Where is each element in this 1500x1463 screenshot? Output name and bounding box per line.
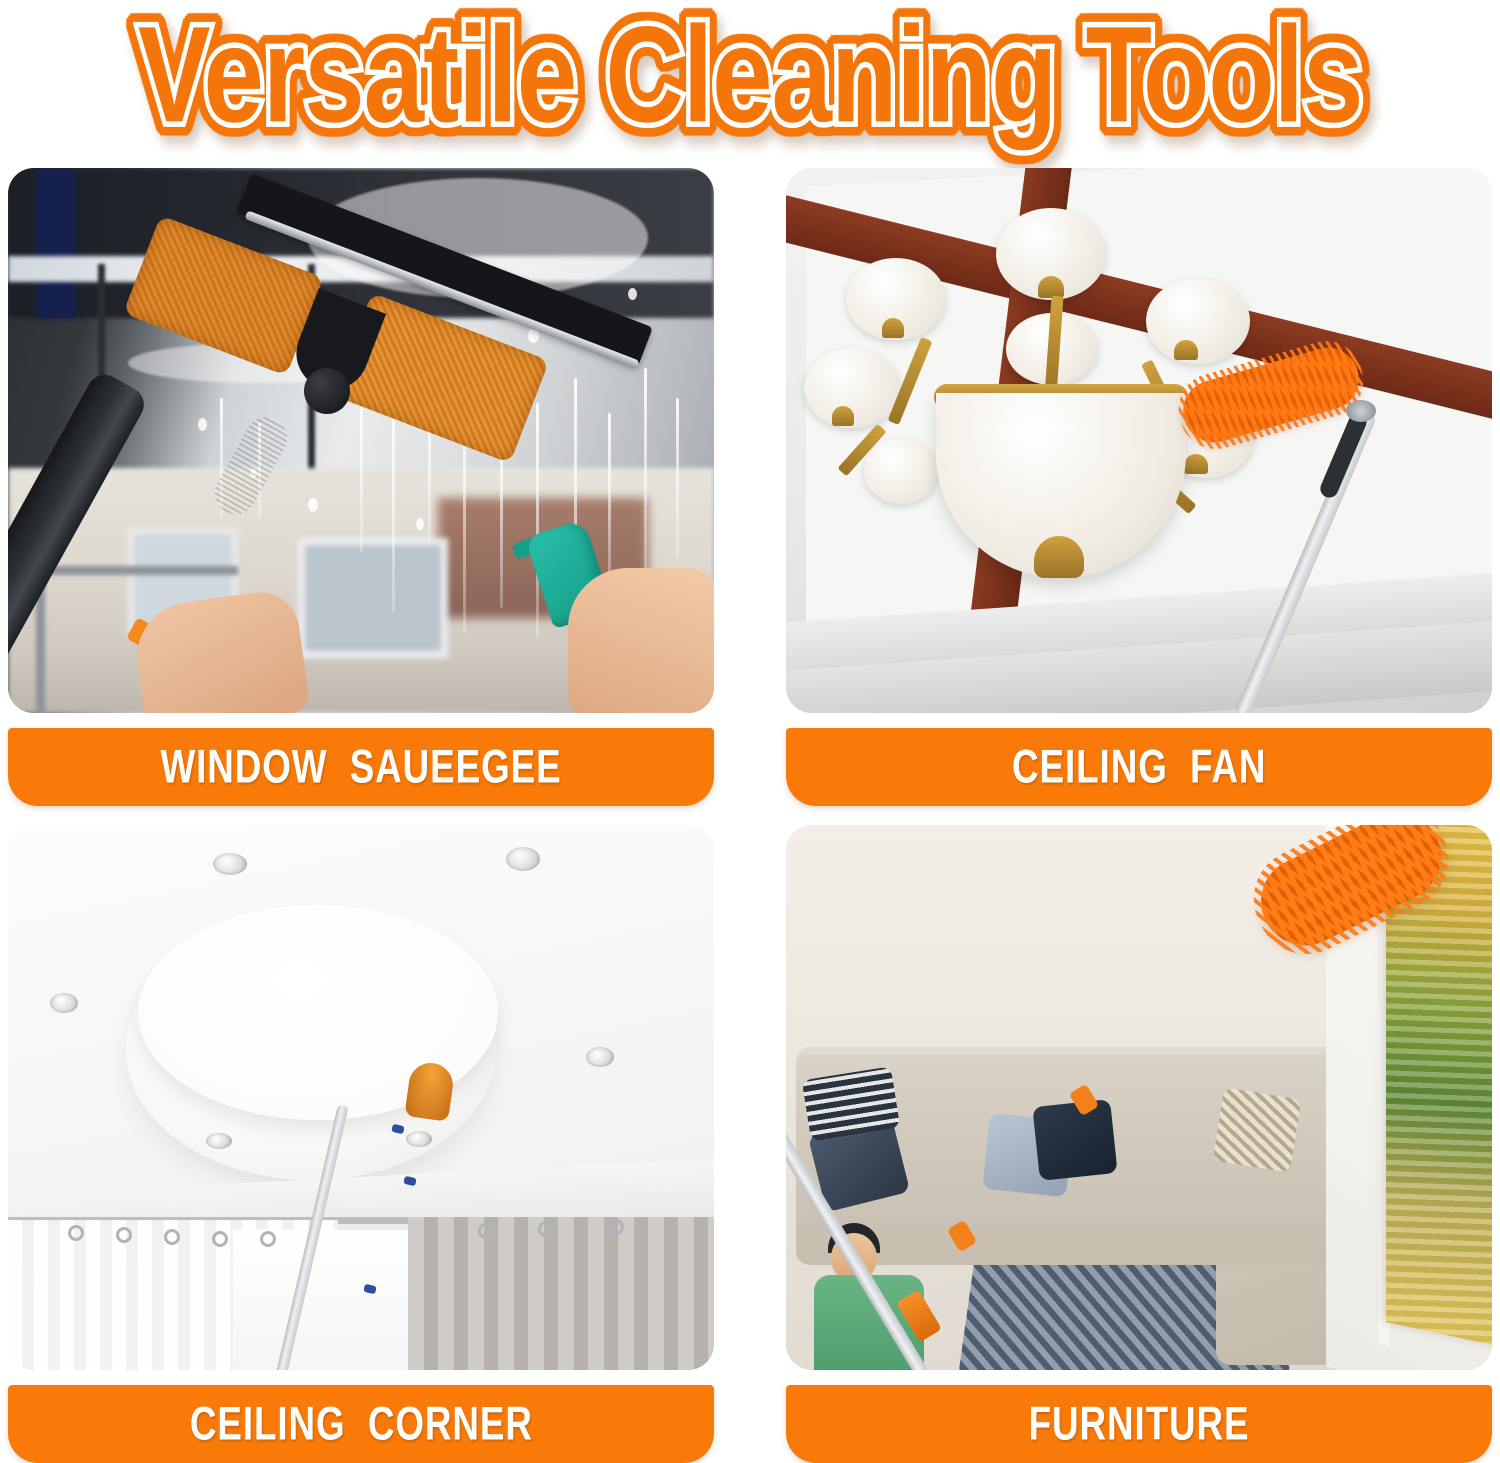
- squeegee-pivot-joint: [304, 368, 350, 414]
- panel-label-ceiling-fan: CEILING FAN: [1012, 743, 1266, 790]
- brass-fitting: [832, 406, 854, 426]
- window-light: [233, 1230, 428, 1370]
- panel-label-bar-ceiling-fan: CEILING FAN: [786, 728, 1492, 806]
- curtain-ring: [260, 1231, 276, 1247]
- recessed-downlight: [213, 853, 247, 875]
- photo-window-squeegee: [8, 168, 714, 713]
- throw-pillow: [1213, 1087, 1302, 1172]
- photo-ceiling-fan: [786, 168, 1492, 713]
- recessed-downlight: [206, 1133, 232, 1149]
- page-title: Versatile Cleaning Tools: [138, 7, 1362, 144]
- feature-grid: WINDOW SAUEEGEE: [0, 150, 1500, 1459]
- chandelier-globe: [1146, 278, 1250, 364]
- photo-furniture: [786, 825, 1492, 1370]
- feature-panel-ceiling-fan[interactable]: CEILING FAN: [786, 168, 1492, 792]
- brass-fitting: [1184, 454, 1208, 474]
- recessed-downlight: [506, 847, 540, 871]
- feature-panel-window-squeegee[interactable]: WINDOW SAUEEGEE: [8, 168, 714, 792]
- panel-label-bar-ceiling-corner: CEILING CORNER: [8, 1385, 714, 1463]
- photo-ceiling-corner: [8, 825, 714, 1370]
- chandelier-globe: [864, 438, 938, 504]
- feature-panel-ceiling-corner[interactable]: CEILING CORNER: [8, 825, 714, 1449]
- chandelier-finial: [1034, 536, 1084, 578]
- squeegee-handle: [8, 368, 150, 703]
- throw-pillow: [1032, 1099, 1117, 1181]
- curtain-ring: [68, 1225, 84, 1241]
- pole-connector: [1346, 400, 1376, 422]
- recessed-downlight: [406, 1131, 432, 1147]
- brass-fitting: [1174, 340, 1198, 360]
- panel-label-furniture: FURNITURE: [1029, 1400, 1250, 1447]
- feature-panel-furniture[interactable]: FURNITURE: [786, 825, 1492, 1449]
- page-header: Versatile Cleaning Tools: [0, 0, 1500, 150]
- curtain-ring: [608, 1219, 624, 1235]
- curtain-ring: [164, 1229, 180, 1245]
- curtain-ring: [212, 1231, 228, 1247]
- recessed-downlight: [586, 1047, 614, 1067]
- curtain-ring: [478, 1223, 494, 1239]
- panel-label-ceiling-corner: CEILING CORNER: [190, 1400, 533, 1447]
- panel-label-bar-window-squeegee: WINDOW SAUEEGEE: [8, 728, 714, 806]
- panel-label-window-squeegee: WINDOW SAUEEGEE: [160, 743, 561, 790]
- panel-label-bar-furniture: FURNITURE: [786, 1385, 1492, 1463]
- handle-orange-grip: [207, 409, 295, 521]
- curtain-ring: [116, 1227, 132, 1243]
- recessed-downlight: [50, 993, 78, 1013]
- brass-fitting: [882, 318, 904, 338]
- brass-fitting: [1038, 276, 1064, 298]
- hand-holding-spray: [568, 568, 714, 713]
- scrub-pad-left: [123, 215, 324, 376]
- grey-curtain: [408, 1217, 714, 1370]
- curtain-ring: [538, 1221, 554, 1237]
